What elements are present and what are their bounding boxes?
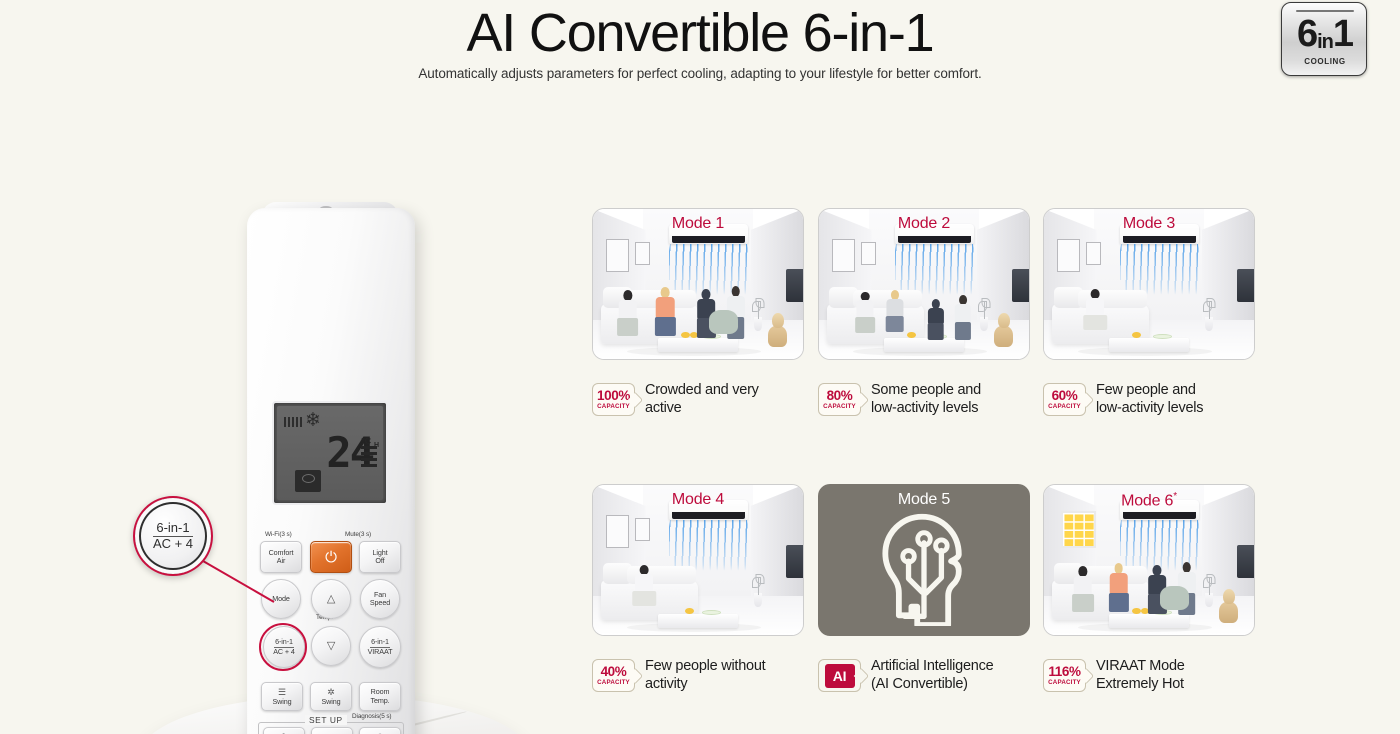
remote-button-func[interactable]: ⚙ Func.	[359, 727, 401, 734]
button-label-line2: VIRAAT	[368, 648, 393, 656]
button-label-line2: Air	[277, 557, 285, 565]
lcd-signal-bars-icon	[284, 417, 304, 427]
button-label-line1: Mode	[272, 595, 290, 603]
capacity-label: CAPACITY	[1048, 679, 1081, 687]
remote-button-temp-down[interactable]: ▽	[311, 626, 351, 666]
diagnosis-hint-label: Diagnosis(5 s)	[352, 713, 391, 720]
mode-grid: Mode 1 100% CAPACITY Crowded and very ac…	[592, 208, 1256, 708]
mode-card-4[interactable]: Mode 4	[592, 484, 804, 636]
person-icon	[614, 290, 641, 335]
button-label-line2: Swing	[272, 698, 291, 706]
capacity-badge-1: 100% CAPACITY	[592, 383, 635, 416]
mode-card-5[interactable]: Mode 5	[818, 484, 1030, 636]
mode-description-3: Few people and low-activity levels	[1096, 382, 1203, 417]
coffee-table-icon	[1109, 338, 1189, 352]
person-icon	[1105, 563, 1132, 611]
plant-icon	[977, 301, 992, 331]
mode-card-2[interactable]: Mode 2	[818, 208, 1030, 360]
mode-column-5: Mode 5 AI Artificial Intelligence (AI Co…	[818, 484, 1030, 636]
desc-line-1: Some people and	[871, 382, 981, 400]
person-icon	[951, 295, 974, 340]
remote-button-swing-horizontal[interactable]: ☰ Swing	[261, 682, 303, 711]
remote-control-scene: ❄ 24 °C H Wi-Fi(3 s) Mute(3 s) Temp. Dia…	[0, 150, 580, 734]
callout-line-1: 6-in-1	[153, 521, 193, 537]
desc-line-2: low-activity levels	[1096, 400, 1203, 418]
mode-caption-4: 40% CAPACITY Few people without activity	[592, 658, 765, 693]
capacity-badge-3: 60% CAPACITY	[1043, 383, 1086, 416]
mode-caption-6: 116% CAPACITY VIRAAT Mode Extremely Hot	[1043, 658, 1185, 693]
cushion-icon	[1160, 586, 1189, 610]
mode-title-2: Mode 2	[819, 215, 1029, 233]
cushion-icon	[709, 310, 738, 334]
desc-line-1: Artificial Intelligence	[871, 658, 993, 676]
badge-in-text: in	[1317, 31, 1333, 53]
button-label-line2: Temp.	[370, 697, 389, 705]
plant-icon	[751, 301, 766, 331]
person-icon	[882, 290, 907, 332]
tv-icon	[786, 269, 804, 302]
desc-line-1: Crowded and very	[645, 382, 759, 400]
button-label-line2: Swing	[321, 698, 340, 706]
person-icon	[853, 292, 878, 333]
tv-icon	[1012, 269, 1030, 302]
mode-caption-5: AI Artificial Intelligence (AI Convertib…	[818, 658, 993, 693]
mode-card-6[interactable]: Mode 6*	[1043, 484, 1255, 636]
dog-icon	[1216, 589, 1241, 624]
lcd-inner-panel: ❄ 24 °C H	[277, 406, 383, 500]
page-subtitle: Automatically adjusts parameters for per…	[0, 66, 1400, 81]
power-icon: ⏻	[325, 552, 337, 563]
plant-icon	[1202, 577, 1217, 607]
mode-description-4: Few people without activity	[645, 658, 765, 693]
lcd-temperature-unit: °C	[361, 436, 371, 446]
remote-button-power[interactable]: ⏻	[310, 541, 352, 573]
picture-frame-icon	[861, 242, 876, 265]
mode-card-3[interactable]: Mode 3	[1043, 208, 1255, 360]
picture-frame-icon	[1057, 239, 1080, 272]
remote-lcd-display: ❄ 24 °C H	[272, 401, 388, 505]
desc-line-2: low-activity levels	[871, 400, 981, 418]
desc-line-1: VIRAAT Mode	[1096, 658, 1185, 676]
page-title: AI Convertible 6-in-1	[0, 2, 1400, 64]
badge-number-one: 1	[1333, 13, 1353, 55]
capacity-percent: 116%	[1048, 665, 1080, 679]
chevron-up-icon: △	[327, 594, 335, 605]
desc-line-1: Few people and	[1096, 382, 1203, 400]
plant-icon	[751, 577, 766, 607]
lcd-fan-bars-icon	[361, 446, 377, 468]
mode-description-6: VIRAAT Mode Extremely Hot	[1096, 658, 1185, 693]
coffee-table-icon	[658, 614, 738, 628]
desc-line-2: (AI Convertible)	[871, 676, 993, 694]
mode-description-5: Artificial Intelligence (AI Convertible)	[871, 658, 993, 693]
capacity-percent: 80%	[827, 389, 853, 403]
dog-icon	[765, 313, 790, 348]
plant-icon	[1202, 301, 1217, 331]
button-label-line2: Off	[375, 557, 384, 565]
mode-title-4: Mode 4	[593, 491, 803, 509]
setup-group-label: SET UP	[305, 715, 347, 725]
remote-button-fan-speed[interactable]: Fan Speed	[360, 579, 400, 619]
remote-button-six-in-one-viraat[interactable]: 6-in-1 VIRAAT	[359, 626, 401, 668]
mode-title-asterisk: *	[1173, 491, 1177, 502]
mode-title-3: Mode 3	[1044, 215, 1254, 233]
mode-caption-1: 100% CAPACITY Crowded and very active	[592, 382, 759, 417]
mode-description-2: Some people and low-activity levels	[871, 382, 981, 417]
mode-description-1: Crowded and very active	[645, 382, 759, 417]
mode-title-5: Mode 5	[819, 491, 1029, 509]
mode-card-1[interactable]: Mode 1	[592, 208, 804, 360]
airflow-icon	[669, 520, 749, 571]
remote-button-setup-up[interactable]: △	[311, 727, 353, 734]
six-in-one-cooling-badge: 6in1 COOLING	[1281, 2, 1367, 76]
person-icon	[924, 299, 947, 340]
capacity-label: CAPACITY	[823, 403, 856, 411]
picture-frame-icon	[635, 242, 650, 265]
badge-number-six: 6	[1297, 13, 1317, 55]
callout-line-2: AC + 4	[153, 536, 193, 551]
lcd-mode-icon	[295, 470, 321, 492]
chevron-down-icon: ▽	[327, 641, 335, 652]
ai-badge-5: AI	[818, 659, 861, 692]
button-label-line2: Speed	[370, 599, 390, 607]
tv-icon	[786, 545, 804, 578]
mute-hint-label: Mute(3 s)	[345, 531, 371, 538]
mode-caption-2: 80% CAPACITY Some people and low-activit…	[818, 382, 981, 417]
mode-column-1: Mode 1 100% CAPACITY Crowded and very ac…	[592, 208, 804, 360]
mode-column-2: Mode 2 80% CAPACITY Some people and low-…	[818, 208, 1030, 360]
person-icon	[1082, 289, 1109, 331]
mode-title-6: Mode 6*	[1044, 491, 1254, 510]
six-in-one-ac4-callout: 6-in-1 AC + 4	[133, 496, 213, 576]
capacity-badge-2: 80% CAPACITY	[818, 383, 861, 416]
mode-column-4: Mode 4 40% CAPACITY Few people without a…	[592, 484, 804, 636]
badge-cooling-label: COOLING	[1282, 57, 1367, 66]
picture-frame-icon	[606, 239, 629, 272]
mode-column-3: Mode 3 60% CAPACITY Few people and low-a…	[1043, 208, 1255, 360]
remote-button-comfort-air[interactable]: Comfort Air	[260, 541, 302, 573]
lcd-snowflake-icon: ❄	[305, 411, 321, 430]
picture-frame-icon	[1086, 242, 1101, 265]
capacity-percent: 60%	[1052, 389, 1078, 403]
mode-title-1: Mode 1	[593, 215, 803, 233]
desc-line-2: activity	[645, 676, 765, 694]
mode-caption-3: 60% CAPACITY Few people and low-activity…	[1043, 382, 1203, 417]
ai-square-label: AI	[825, 664, 855, 688]
callout-target-ring	[259, 623, 307, 671]
page-header: AI Convertible 6-in-1 Automatically adju…	[0, 0, 1400, 100]
person-icon	[1069, 566, 1096, 611]
capacity-label: CAPACITY	[597, 403, 630, 411]
airflow-icon	[1120, 244, 1200, 295]
coffee-table-icon	[1109, 614, 1189, 628]
coffee-table-icon	[658, 338, 738, 352]
desc-line-2: active	[645, 400, 759, 418]
capacity-percent: 100%	[597, 389, 630, 403]
desc-line-2: Extremely Hot	[1096, 676, 1185, 694]
mode-column-6: Mode 6* 116% CAPACITY VIRAAT Mode Extrem…	[1043, 484, 1255, 636]
airflow-icon	[895, 244, 975, 295]
callout-fraction: 6-in-1 AC + 4	[153, 521, 193, 551]
dog-icon	[991, 313, 1016, 348]
ai-brain-head-icon	[866, 508, 982, 626]
remote-button-temp-up[interactable]: △	[311, 579, 351, 619]
person-icon	[652, 287, 679, 335]
picture-frame-icon	[832, 239, 855, 272]
remote-button-swing-vertical[interactable]: ✲ Swing	[310, 682, 352, 711]
remote-button-room-temp[interactable]: Room Temp.	[359, 682, 401, 711]
wifi-hint-label: Wi-Fi(3 s)	[265, 531, 292, 538]
capacity-label: CAPACITY	[1048, 403, 1081, 411]
coffee-table-icon	[884, 338, 964, 352]
capacity-badge-6: 116% CAPACITY	[1043, 659, 1086, 692]
picture-frame-icon	[606, 515, 629, 548]
picture-frame-icon	[635, 518, 650, 541]
desc-line-1: Few people without	[645, 658, 765, 676]
remote-button-light-off[interactable]: Light Off	[359, 541, 401, 573]
capacity-badge-4: 40% CAPACITY	[592, 659, 635, 692]
capacity-percent: 40%	[601, 665, 627, 679]
capacity-label: CAPACITY	[597, 679, 630, 687]
tv-icon	[1237, 545, 1255, 578]
tv-icon	[1237, 269, 1255, 302]
person-icon	[631, 565, 658, 607]
remote-button-sleep[interactable]: ☾ Sleep	[263, 727, 305, 734]
sunny-window-icon	[1061, 511, 1097, 549]
